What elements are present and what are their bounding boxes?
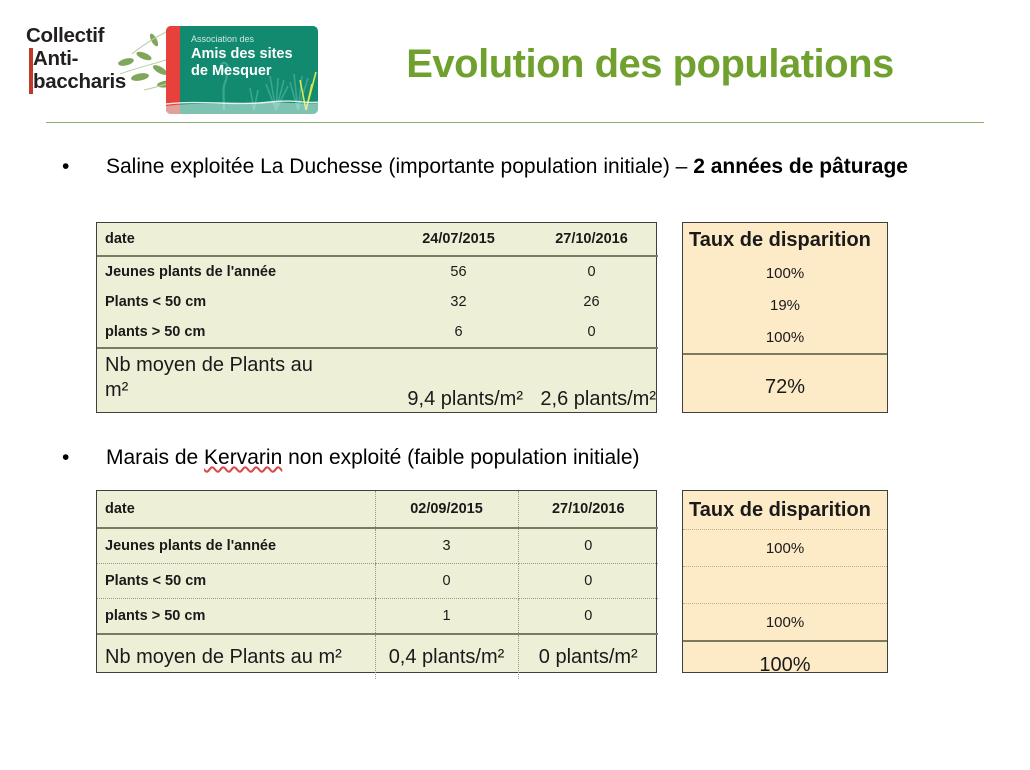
rate-value: 100%: [683, 257, 887, 289]
table-total-row: Nb moyen de Plants aum² 9,4 plants/m² 2,…: [97, 348, 658, 417]
table-header-row: date 24/07/2015 27/10/2016: [97, 223, 658, 256]
row-label: Jeunes plants de l'année: [97, 528, 375, 564]
column-header-date-2: 27/10/2016: [525, 223, 658, 256]
column-header-date-1: 02/09/2015: [375, 491, 518, 528]
total-value-1: 0,4 plants/m²: [375, 634, 518, 679]
column-header-date: date: [97, 491, 375, 528]
table-row: Jeunes plants de l'année 3 0: [97, 528, 658, 564]
row-value-2: 0: [518, 528, 658, 564]
bullet-text-pre: Marais de: [106, 446, 204, 469]
table-total-row: 100%: [683, 641, 887, 688]
table-saline-disappearance-rate: Taux de disparition 100% 19% 100% 72%: [682, 222, 888, 413]
row-value-1: 32: [392, 287, 525, 317]
row-label: plants > 50 cm: [97, 317, 392, 348]
logo-line-3: baccharis: [26, 70, 126, 93]
bullet-text: Marais de Kervarin non exploité (faible …: [106, 443, 862, 473]
rate-value: 100%: [683, 604, 887, 642]
table-header-row: date 02/09/2015 27/10/2016: [97, 491, 658, 528]
row-value-1: 56: [392, 256, 525, 287]
logo-title: Amis des sitesde Mesquer: [191, 46, 293, 80]
logo-group: Collectif Anti- baccharis: [26, 16, 316, 114]
collectif-anti-baccharis-logo: Collectif Anti- baccharis: [26, 24, 166, 104]
table-row: 100%: [683, 530, 887, 567]
bullet-marker: •: [62, 443, 69, 473]
header-divider: [46, 122, 984, 123]
table-marais-counts: date 02/09/2015 27/10/2016 Jeunes plants…: [96, 490, 657, 673]
total-label-line1: Nb moyen de Plants au: [105, 354, 313, 376]
row-label: plants > 50 cm: [97, 599, 375, 635]
row-value-2: 26: [525, 287, 658, 317]
total-value-1: 9,4 plants/m²: [392, 348, 525, 417]
bullet-item-marais: • Marais de Kervarin non exploité (faibl…: [62, 443, 862, 473]
bullet-item-saline: • Saline exploitée La Duchesse (importan…: [62, 152, 912, 182]
bullet-text-misspelled: Kervarin: [204, 446, 282, 469]
logo-subtitle: Association des: [191, 34, 254, 44]
table-total-row: 72%: [683, 354, 887, 419]
column-header-taux: Taux de disparition: [683, 223, 887, 257]
bullet-marker: •: [62, 152, 69, 182]
table-row: [683, 567, 887, 604]
table-row: 100%: [683, 257, 887, 289]
logo-title-line1: Amis des sites: [191, 46, 293, 62]
row-value-1: 1: [375, 599, 518, 635]
row-label: Plants < 50 cm: [97, 287, 392, 317]
total-label-line2: m²: [105, 379, 128, 401]
rate-value: 100%: [683, 321, 887, 354]
column-header-date-1: 24/07/2015: [392, 223, 525, 256]
bullet-text-bold: 2 années de pâturage: [693, 155, 908, 178]
page-title: Evolution des populations: [330, 42, 970, 87]
row-value-2: 0: [525, 256, 658, 287]
table-row: 19%: [683, 289, 887, 321]
table-row: Plants < 50 cm 32 26: [97, 287, 658, 317]
row-value-2: 0: [525, 317, 658, 348]
table-row: plants > 50 cm 6 0: [97, 317, 658, 348]
rate-total-value: 100%: [683, 641, 887, 688]
row-value-2: 0: [518, 599, 658, 635]
row-label: Plants < 50 cm: [97, 564, 375, 599]
logo-line-2: Anti-: [26, 47, 126, 70]
logo-text: Collectif Anti- baccharis: [26, 24, 126, 93]
table-header-row: Taux de disparition: [683, 223, 887, 257]
rate-value: 100%: [683, 530, 887, 567]
row-label: Jeunes plants de l'année: [97, 256, 392, 287]
bullet-text-post: non exploité (faible population initiale…: [282, 446, 639, 469]
column-header-date-2: 27/10/2016: [518, 491, 658, 528]
total-label: Nb moyen de Plants au m²: [97, 634, 375, 679]
bullet-text-normal: Saline exploitée La Duchesse (importante…: [106, 155, 693, 178]
amis-des-sites-de-mesquer-logo: Association des Amis des sitesde Mesquer: [166, 26, 318, 114]
table-marais-disappearance-rate: Taux de disparition 100% 100% 100%: [682, 490, 888, 673]
total-value-2: 0 plants/m²: [518, 634, 658, 679]
rate-value-empty: [683, 567, 887, 604]
column-header-taux: Taux de disparition: [683, 491, 887, 530]
table-row: plants > 50 cm 1 0: [97, 599, 658, 635]
table-row: Jeunes plants de l'année 56 0: [97, 256, 658, 287]
logo-line-1: Collectif: [26, 24, 104, 47]
rate-total-value: 72%: [683, 354, 887, 419]
total-value-2: 2,6 plants/m²: [525, 348, 658, 417]
column-header-date: date: [97, 223, 392, 256]
table-total-row: Nb moyen de Plants au m² 0,4 plants/m² 0…: [97, 634, 658, 679]
rate-value: 19%: [683, 289, 887, 321]
row-value-1: 0: [375, 564, 518, 599]
table-row: 100%: [683, 604, 887, 642]
bullet-text: Saline exploitée La Duchesse (importante…: [106, 152, 912, 182]
row-value-1: 3: [375, 528, 518, 564]
row-value-1: 6: [392, 317, 525, 348]
table-row: Plants < 50 cm 0 0: [97, 564, 658, 599]
slide: Collectif Anti- baccharis: [0, 0, 1030, 770]
logo-title-line2: de Mesquer: [191, 63, 272, 79]
total-label: Nb moyen de Plants aum²: [97, 348, 392, 417]
row-value-2: 0: [518, 564, 658, 599]
table-row: 100%: [683, 321, 887, 354]
table-header-row: Taux de disparition: [683, 491, 887, 530]
table-saline-counts: date 24/07/2015 27/10/2016 Jeunes plants…: [96, 222, 657, 413]
